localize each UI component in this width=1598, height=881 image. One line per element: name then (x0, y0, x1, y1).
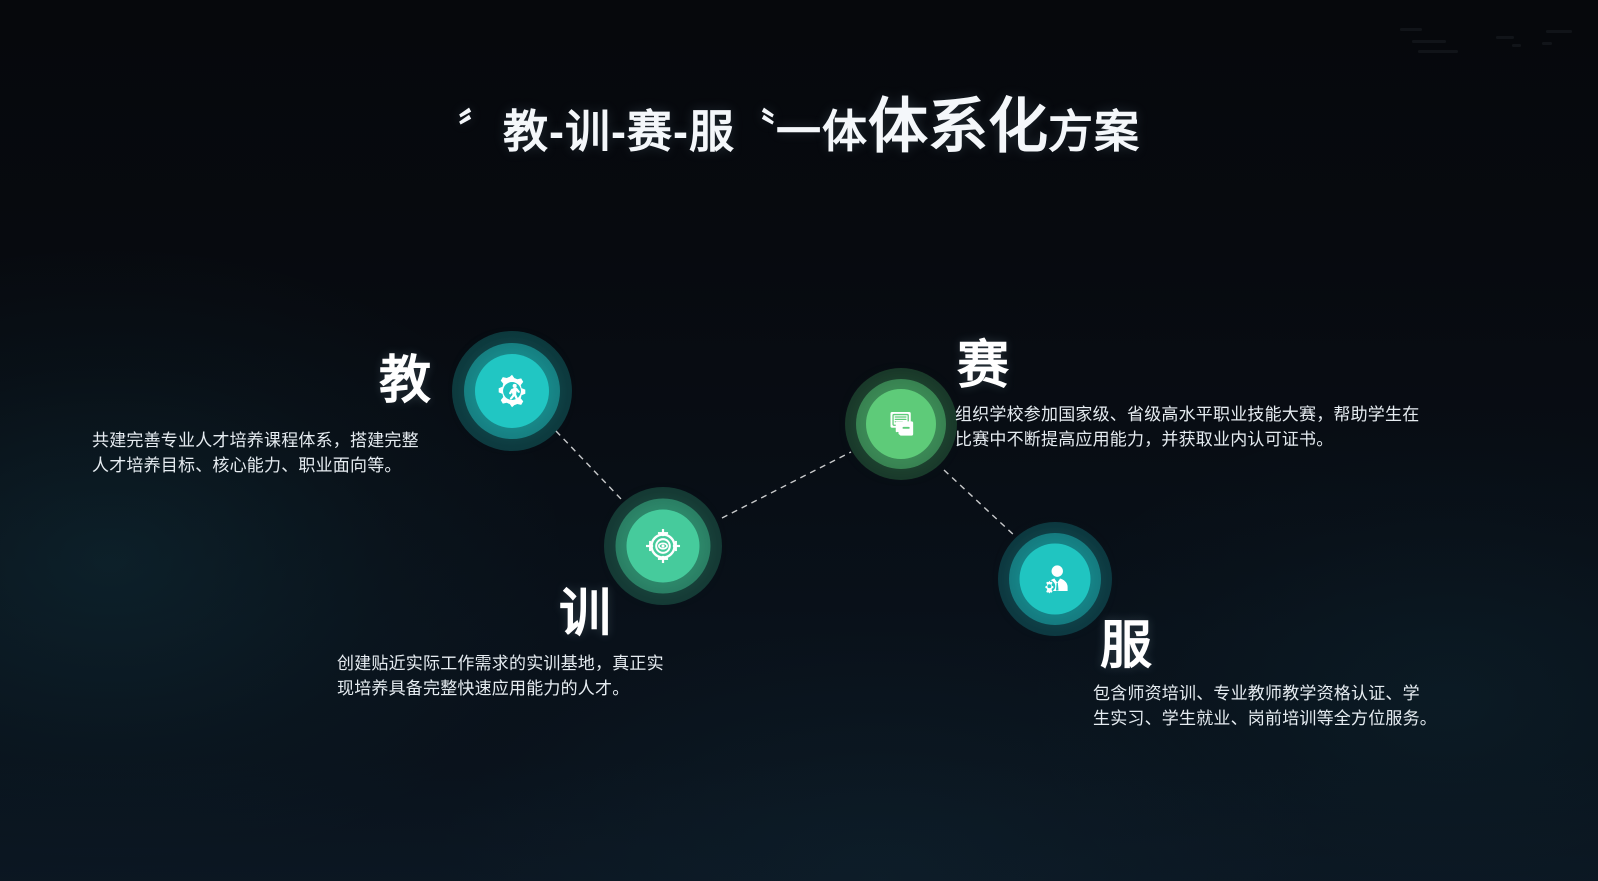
node-xun-label: 训 (559, 588, 612, 640)
target-eye-icon (644, 527, 682, 565)
connector-jiao-xun (556, 431, 622, 500)
node-sai-label: 赛 (957, 340, 1010, 392)
gear-person-icon (493, 372, 531, 410)
title-quote-open: 〞 (458, 108, 497, 150)
title-mid: 一体 (776, 106, 868, 157)
connector-sai-fu (944, 470, 1016, 537)
background-haze (0, 761, 1598, 881)
slide-canvas: 〞教-训-赛-服〝一体体系化方案 教 共建完善专业人才培养课程体系，搭建完整 人… (0, 0, 1598, 881)
node-fu-label: 服 (1100, 620, 1153, 672)
page-title: 〞教-训-赛-服〝一体体系化方案 (0, 78, 1598, 165)
watermark-artifact (1360, 22, 1580, 68)
title-emphasis: 体系化 (868, 93, 1048, 160)
person-service-gear-icon (1037, 561, 1073, 597)
connector-xun-sai (722, 452, 851, 518)
node-xun-description: 创建贴近实际工作需求的实训基地，真正实 现培养具备完整快速应用能力的人才。 (337, 651, 717, 701)
node-sai[interactable] (845, 368, 957, 480)
node-xun[interactable] (604, 487, 722, 605)
title-tail: 方案 (1048, 106, 1140, 157)
node-fu-description: 包含师资培训、专业教师教学资格认证、学 生实习、学生就业、岗前培训等全方位服务。 (1093, 681, 1493, 731)
node-jiao-description: 共建完善专业人才培养课程体系，搭建完整 人才培养目标、核心能力、职业面向等。 (92, 428, 482, 478)
title-quote-close: 〝 (737, 108, 776, 150)
node-jiao-label: 教 (379, 355, 432, 407)
documents-stack-icon (883, 406, 919, 442)
title-core: 教-训-赛-服 (503, 106, 735, 157)
node-fu[interactable] (998, 522, 1112, 636)
node-sai-description: 组织学校参加国家级、省级高水平职业技能大赛，帮助学生在 比赛中不断提高应用能力，… (955, 402, 1475, 452)
